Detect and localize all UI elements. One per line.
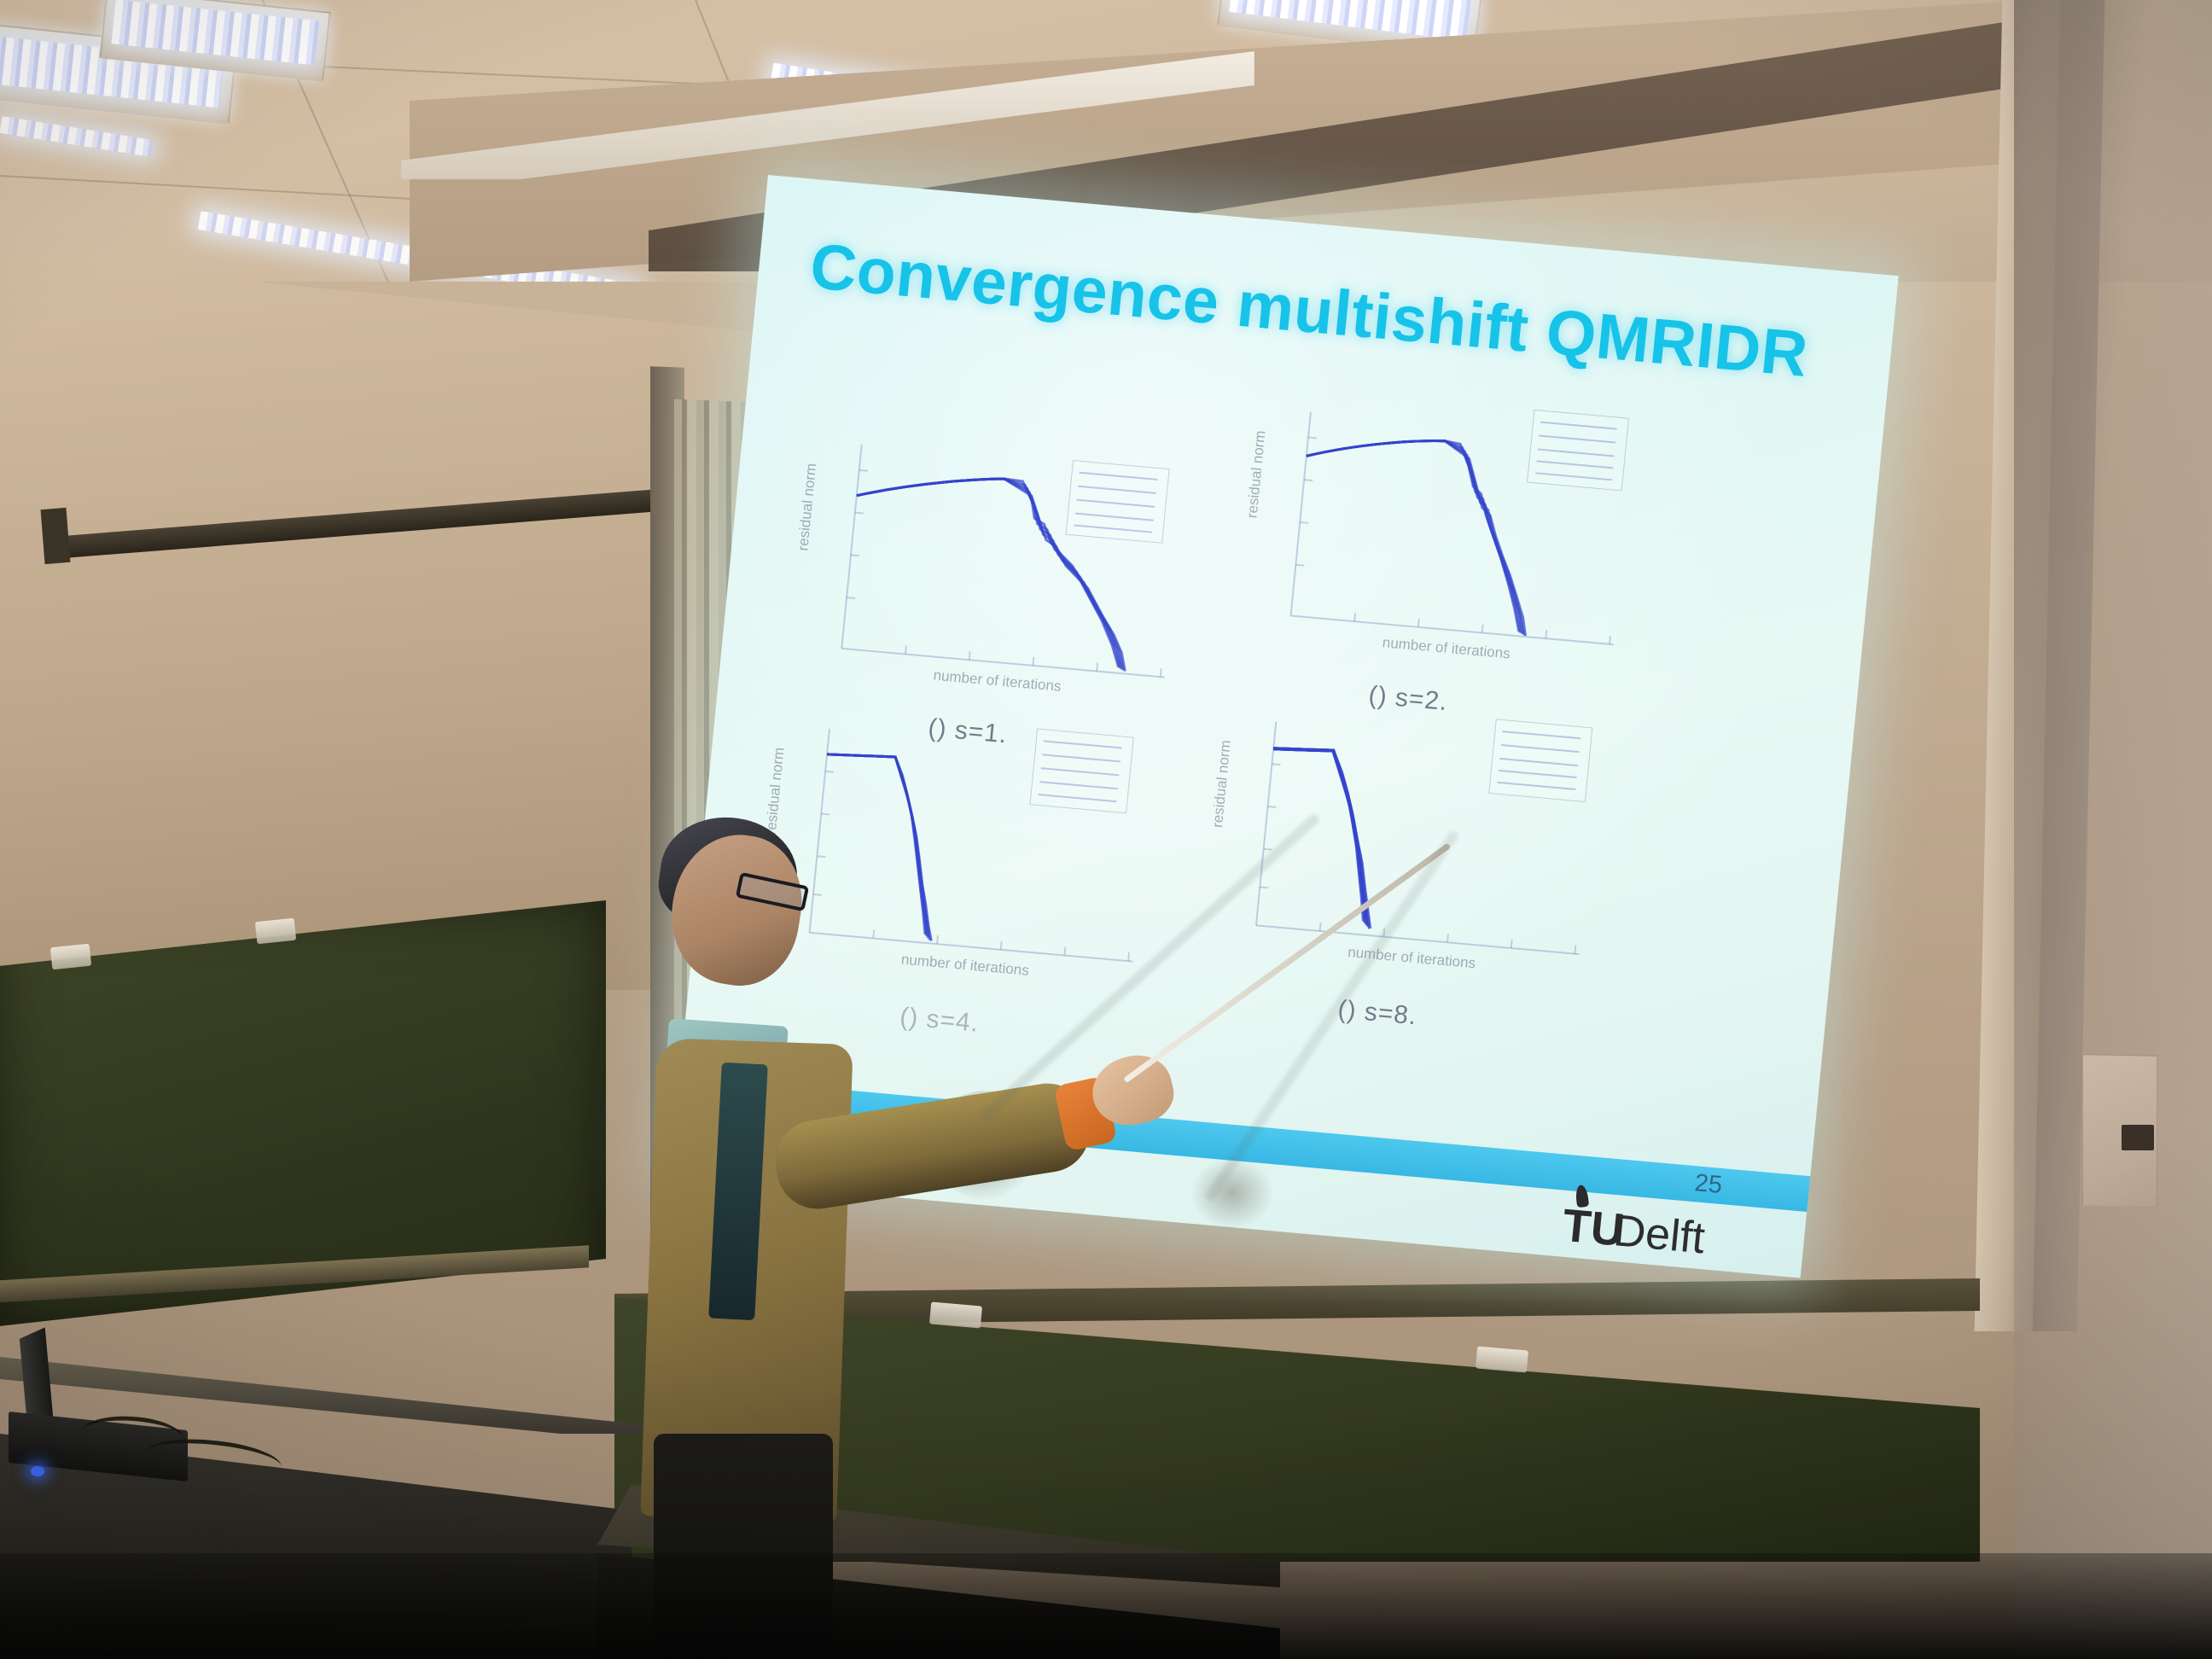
- hand-shadow-secondary: [1190, 1156, 1274, 1230]
- board-clip: [1476, 1346, 1528, 1372]
- board-clip: [255, 918, 296, 945]
- board-clip: [50, 944, 91, 970]
- slide-page-number: 25: [1693, 1169, 1723, 1200]
- wall-rail-bracket: [41, 508, 71, 564]
- wall-panel-slot-icon: [2122, 1125, 2154, 1150]
- plot-s1: number of iterations residual norm: [804, 433, 1195, 720]
- lecture-hall-photo: Convergence multishift QMRIDR: [0, 0, 2212, 1659]
- tu-delft-logo-delft: Delft: [1611, 1205, 1707, 1264]
- plot-s4-legend: [1029, 729, 1133, 814]
- right-wall: [2014, 0, 2212, 1659]
- foreground-shadow: [0, 1553, 2212, 1659]
- plot-s2-legend: [1527, 410, 1629, 492]
- plot-s2: number of iterations residual norm: [1253, 400, 1644, 688]
- plot-s1-legend: [1066, 460, 1170, 544]
- laptop-power-led-icon: [31, 1466, 44, 1476]
- plot-s8-legend: [1488, 719, 1592, 802]
- presenter: [649, 913, 1246, 1562]
